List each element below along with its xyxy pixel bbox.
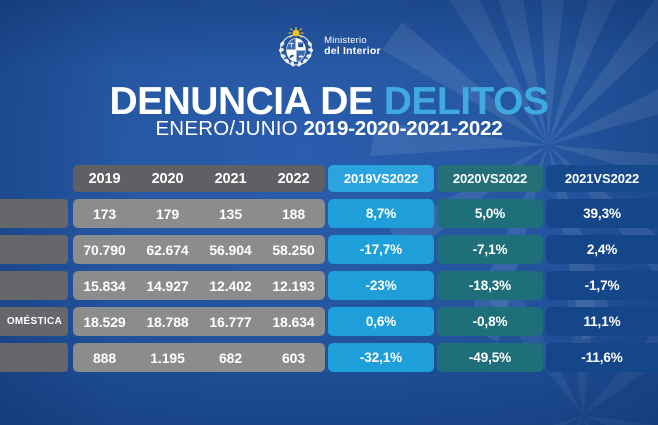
- header-year-group: 2019 2020 2021 2022: [73, 165, 325, 192]
- table-row: 888 1.195 682 603 -32,1% -49,5% -11,6%: [0, 343, 658, 372]
- column-header-2022: 2022: [262, 165, 325, 192]
- ministry-logo-text: Ministerio del Interior: [324, 36, 381, 58]
- cell-2019: 15.834: [73, 271, 136, 300]
- subtitle-years: 2019-2020-2021-2022: [303, 117, 502, 140]
- row-label: [0, 235, 68, 264]
- row-year-group: 888 1.195 682 603: [73, 343, 325, 372]
- table-row: 70.790 62.674 56.904 58.250 -17,7% -7,1%…: [0, 235, 658, 264]
- cell-2020: 18.788: [136, 307, 199, 336]
- row-label: [0, 271, 68, 300]
- cell-2019vs2022: -17,7%: [328, 235, 434, 264]
- column-header-2020vs2022: 2020VS2022: [437, 165, 543, 192]
- cell-2019: 888: [73, 343, 136, 372]
- column-header-2020: 2020: [136, 165, 199, 192]
- column-header-2019: 2019: [73, 165, 136, 192]
- row-year-group: 18.529 18.788 16.777 18.634: [73, 307, 325, 336]
- cell-2022: 12.193: [262, 271, 325, 300]
- table-row: 15.834 14.927 12.402 12.193 -23% -18,3% …: [0, 271, 658, 300]
- cell-2021vs2022: -1,7%: [546, 271, 658, 300]
- cell-2021: 12.402: [199, 271, 262, 300]
- cell-2021: 56.904: [199, 235, 262, 264]
- subtitle-period: ENERO/JUNIO: [155, 117, 297, 140]
- row-label: [0, 199, 68, 228]
- row-year-group: 173 179 135 188: [73, 199, 325, 228]
- row-comparison-group: -17,7% -7,1% 2,4%: [325, 235, 658, 264]
- row-comparison-group: -23% -18,3% -1,7%: [325, 271, 658, 300]
- ministry-name-line2: del Interior: [324, 46, 381, 58]
- cell-2019: 70.790: [73, 235, 136, 264]
- cell-2020: 14.927: [136, 271, 199, 300]
- cell-2021: 682: [199, 343, 262, 372]
- cell-2022: 58.250: [262, 235, 325, 264]
- row-comparison-group: 8,7% 5,0% 39,3%: [325, 199, 658, 228]
- cell-2021: 135: [199, 199, 262, 228]
- cell-2019vs2022: -32,1%: [328, 343, 434, 372]
- cell-2020: 62.674: [136, 235, 199, 264]
- row-comparison-group: 0,6% -0,8% 11,1%: [325, 307, 658, 336]
- cell-2020vs2022: -0,8%: [437, 307, 543, 336]
- table-header-row: 2019 2020 2021 2022 2019VS2022 2020VS202…: [0, 165, 658, 192]
- column-header-2021vs2022: 2021VS2022: [546, 165, 658, 192]
- cell-2021vs2022: 2,4%: [546, 235, 658, 264]
- cell-2020vs2022: -18,3%: [437, 271, 543, 300]
- row-year-group: 70.790 62.674 56.904 58.250: [73, 235, 325, 264]
- cell-2022: 18.634: [262, 307, 325, 336]
- cell-2019: 173: [73, 199, 136, 228]
- cell-2022: 188: [262, 199, 325, 228]
- table-row: OMÉSTICA 18.529 18.788 16.777 18.634 0,6…: [0, 307, 658, 336]
- crime-report-table: 2019 2020 2021 2022 2019VS2022 2020VS202…: [0, 165, 658, 379]
- ministry-logo: Ministerio del Interior: [0, 26, 658, 68]
- cell-2021: 16.777: [199, 307, 262, 336]
- cell-2022: 603: [262, 343, 325, 372]
- table-row: 173 179 135 188 8,7% 5,0% 39,3%: [0, 199, 658, 228]
- cell-2020vs2022: -7,1%: [437, 235, 543, 264]
- cell-2020vs2022: -49,5%: [437, 343, 543, 372]
- page-subtitle: ENERO/JUNIO 2019-2020-2021-2022: [0, 119, 658, 140]
- page-title: DENUNCIA DE DELITOS: [0, 82, 658, 121]
- column-header-2019vs2022: 2019VS2022: [328, 165, 434, 192]
- cell-2020vs2022: 5,0%: [437, 199, 543, 228]
- header-label-cell: [0, 165, 68, 192]
- cell-2020: 179: [136, 199, 199, 228]
- row-label: OMÉSTICA: [0, 307, 68, 336]
- row-year-group: 15.834 14.927 12.402 12.193: [73, 271, 325, 300]
- cell-2021vs2022: -11,6%: [546, 343, 658, 372]
- cell-2021vs2022: 39,3%: [546, 199, 658, 228]
- row-label: [0, 343, 68, 372]
- cell-2020: 1.195: [136, 343, 199, 372]
- cell-2019vs2022: 0,6%: [328, 307, 434, 336]
- cell-2019vs2022: -23%: [328, 271, 434, 300]
- cell-2019: 18.529: [73, 307, 136, 336]
- infographic-canvas: Ministerio del Interior DENUNCIA DE DELI…: [0, 0, 658, 425]
- row-comparison-group: -32,1% -49,5% -11,6%: [325, 343, 658, 372]
- column-header-2021: 2021: [199, 165, 262, 192]
- header-comparison-group: 2019VS2022 2020VS2022 2021VS2022: [325, 165, 658, 192]
- cell-2021vs2022: 11,1%: [546, 307, 658, 336]
- uruguay-coat-of-arms-icon: [277, 26, 315, 68]
- cell-2019vs2022: 8,7%: [328, 199, 434, 228]
